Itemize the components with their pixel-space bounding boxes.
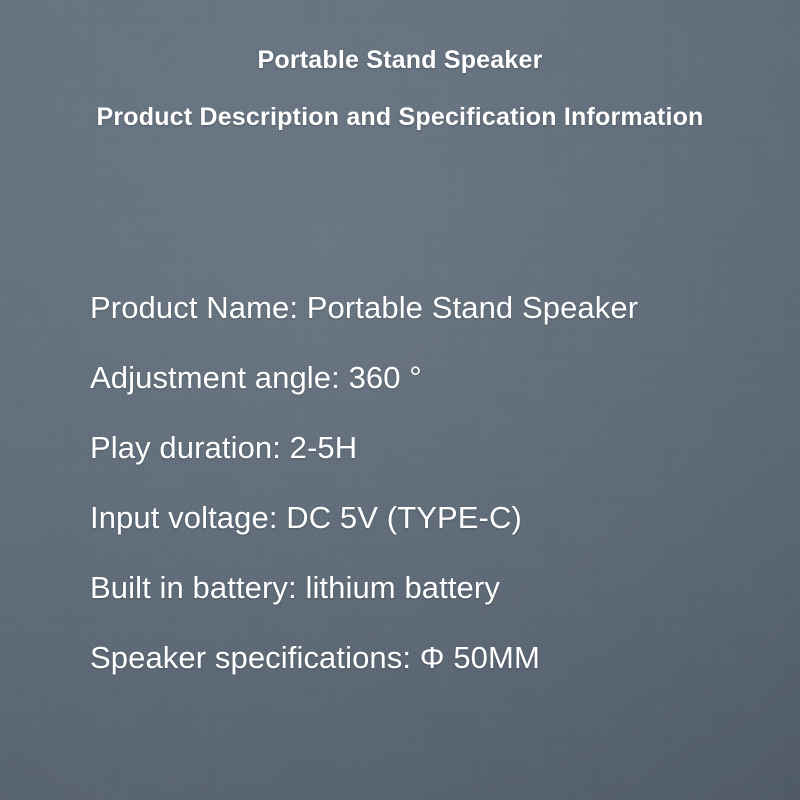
- spec-item-built-in-battery: Built in battery: lithium battery: [90, 572, 750, 603]
- specification-list: Product Name: Portable Stand Speaker Adj…: [90, 292, 750, 673]
- spec-item-adjustment-angle: Adjustment angle: 360 °: [90, 362, 750, 393]
- page-subtitle: Product Description and Specification In…: [0, 105, 800, 130]
- product-spec-card: Portable Stand Speaker Product Descripti…: [0, 0, 800, 800]
- spec-item-input-voltage: Input voltage: DC 5V (TYPE-C): [90, 502, 750, 533]
- spec-item-speaker-specifications: Speaker specifications: Φ 50MM: [90, 642, 750, 673]
- heading-block: Portable Stand Speaker Product Descripti…: [0, 48, 800, 130]
- spec-item-product-name: Product Name: Portable Stand Speaker: [90, 292, 750, 323]
- card-content: Portable Stand Speaker Product Descripti…: [0, 0, 800, 800]
- page-title: Portable Stand Speaker: [0, 48, 800, 73]
- spec-item-play-duration: Play duration: 2-5H: [90, 432, 750, 463]
